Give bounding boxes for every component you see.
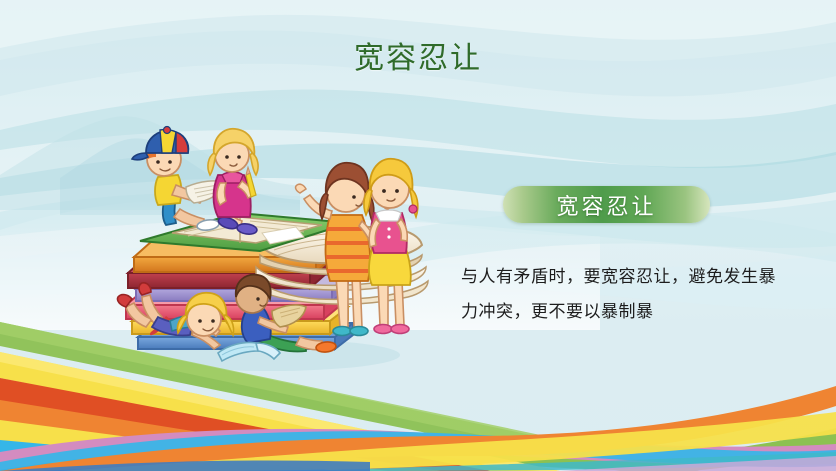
body-line-1: 与人有矛盾时，要宽容忍让，避免发生暴 (461, 260, 761, 295)
badge-label: 宽容忍让 (556, 189, 656, 221)
section-badge: 宽容忍让 (503, 186, 710, 223)
body-line-2: 力冲突，更不要以暴制暴 (461, 295, 761, 330)
colorful-ribbons (0, 0, 836, 471)
slide-canvas: 宽容忍让 (0, 0, 836, 471)
body-paragraph: 与人有矛盾时，要宽容忍让，避免发生暴 力冲突，更不要以暴制暴 (461, 260, 761, 330)
